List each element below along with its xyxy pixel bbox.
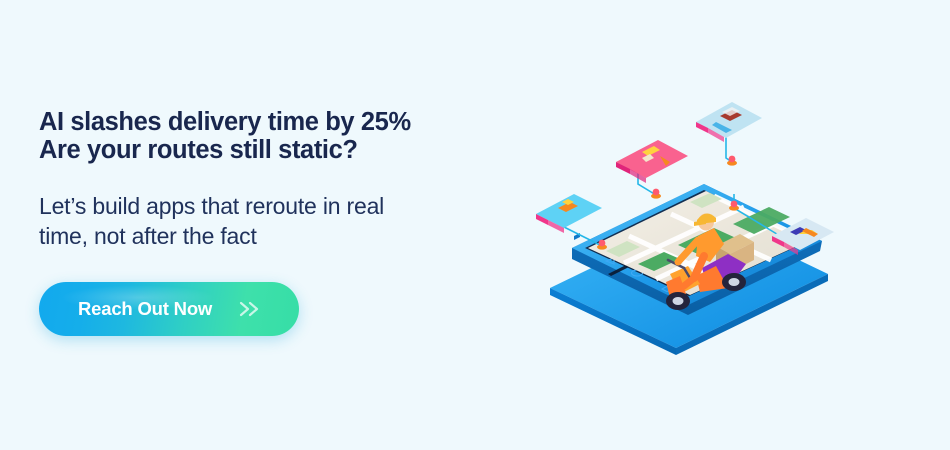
double-chevron-right-icon: [238, 300, 264, 318]
subheadline: Let’s build apps that reroute in real ti…: [39, 164, 489, 251]
ice-cream-card: [616, 140, 688, 183]
reach-out-now-button[interactable]: Reach Out Now: [39, 282, 299, 336]
copy-block: AI slashes delivery time by 25% Are your…: [39, 108, 489, 251]
cta-label: Reach Out Now: [78, 298, 212, 320]
fries-card: [536, 194, 602, 233]
page-title: AI slashes delivery time by 25% Are your…: [39, 108, 489, 164]
promo-banner: AI slashes delivery time by 25% Are your…: [0, 0, 950, 450]
food-basket-card: [696, 102, 762, 142]
isometric-delivery-app-illustration: [528, 96, 858, 356]
